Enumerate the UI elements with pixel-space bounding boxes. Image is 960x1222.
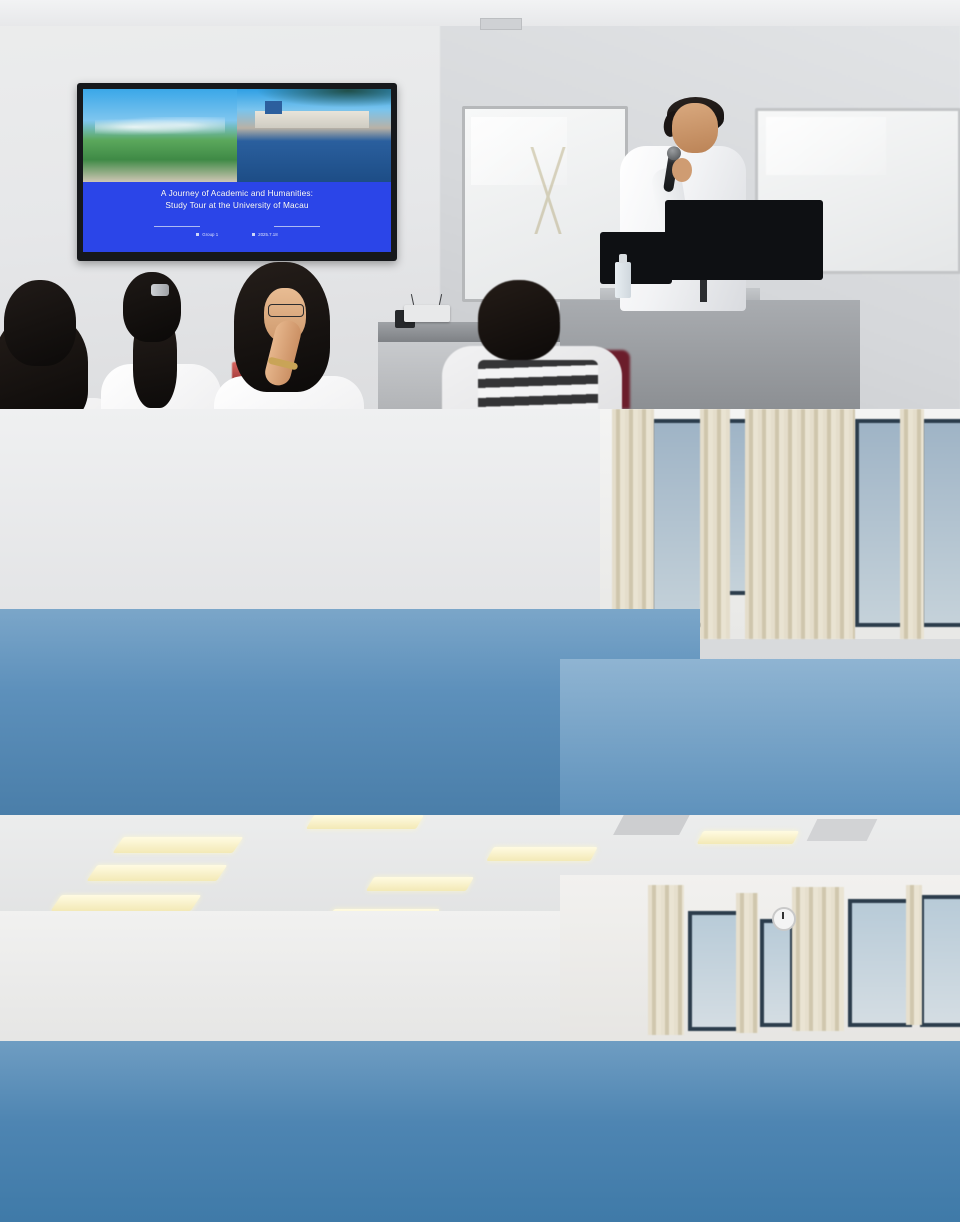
ceiling-light-panel xyxy=(87,865,228,881)
slide-meta-row: Group 1 2025.7.18 xyxy=(83,232,391,237)
wall-back xyxy=(0,911,560,1061)
divider-left xyxy=(154,226,200,227)
slide-photo-lakeside xyxy=(237,89,391,182)
floor-right xyxy=(560,659,960,815)
window-curtain xyxy=(906,885,922,1025)
photo-collage: A Journey of Academic and Humanities: St… xyxy=(0,0,960,1222)
window xyxy=(688,911,742,1031)
ceiling-light-panel xyxy=(113,837,244,853)
wall-clock xyxy=(772,907,796,931)
slide-photo-campus xyxy=(83,89,237,182)
ceiling-light-panel xyxy=(697,831,799,844)
window-curtain xyxy=(745,409,855,639)
whiteboard-writing xyxy=(513,147,583,234)
slide-meta-group: Group 1 xyxy=(196,232,218,237)
slide-photo-tower xyxy=(265,101,282,114)
ceiling-vent xyxy=(480,18,522,30)
hair-clip xyxy=(151,284,169,296)
eyeglasses-icon xyxy=(268,304,304,317)
slide-divider-rules xyxy=(83,226,391,227)
slide-meta-date: 2025.7.18 xyxy=(252,232,278,237)
window-curtain xyxy=(792,887,844,1031)
hand-sanitizer-bottle xyxy=(615,262,631,298)
window-curtain xyxy=(736,893,758,1033)
slide-title: A Journey of Academic and Humanities: St… xyxy=(83,182,391,211)
slide-group-label: Group 1 xyxy=(202,232,218,237)
square-bullet-icon xyxy=(196,233,199,236)
slide-photo-row xyxy=(83,89,391,182)
wall-mounted-tv: A Journey of Academic and Humanities: St… xyxy=(77,83,397,261)
student-head xyxy=(123,272,181,342)
window xyxy=(920,419,960,627)
tv-screen: A Journey of Academic and Humanities: St… xyxy=(83,89,391,252)
window xyxy=(848,899,912,1027)
network-router xyxy=(404,305,450,322)
collage-panel-2: What Can AI Do - Latest Development Next… xyxy=(0,409,960,815)
divider-right xyxy=(274,226,320,227)
striped-top xyxy=(478,360,598,409)
window-curtain xyxy=(900,409,924,639)
ceiling-light-panel xyxy=(486,847,597,861)
window xyxy=(760,919,794,1027)
ceiling-light-panel xyxy=(366,877,474,891)
slide-title-line-2: Study Tour at the University of Macau xyxy=(83,199,391,211)
ceiling-light-panel xyxy=(51,895,202,911)
student-head xyxy=(478,280,560,360)
window-curtain xyxy=(612,409,654,639)
student-head xyxy=(4,280,76,366)
collage-panel-1: A Journey of Academic and Humanities: St… xyxy=(0,0,960,409)
slide-title-line-1: A Journey of Academic and Humanities: xyxy=(83,187,391,199)
ceiling-vent xyxy=(807,819,878,841)
desktop-monitor xyxy=(665,200,823,280)
whiteboard-glare xyxy=(766,117,886,175)
ceiling-light-panel xyxy=(306,815,424,829)
window xyxy=(920,895,960,1027)
collage-panel-3 xyxy=(0,815,960,1222)
presenter-head xyxy=(672,103,718,153)
floor xyxy=(0,1041,960,1222)
secondary-monitor xyxy=(600,232,672,284)
presenter-hand xyxy=(672,158,692,182)
slide-date-label: 2025.7.18 xyxy=(258,232,278,237)
window-curtain xyxy=(700,409,730,639)
window-curtain xyxy=(648,885,684,1035)
square-bullet-icon xyxy=(252,233,255,236)
